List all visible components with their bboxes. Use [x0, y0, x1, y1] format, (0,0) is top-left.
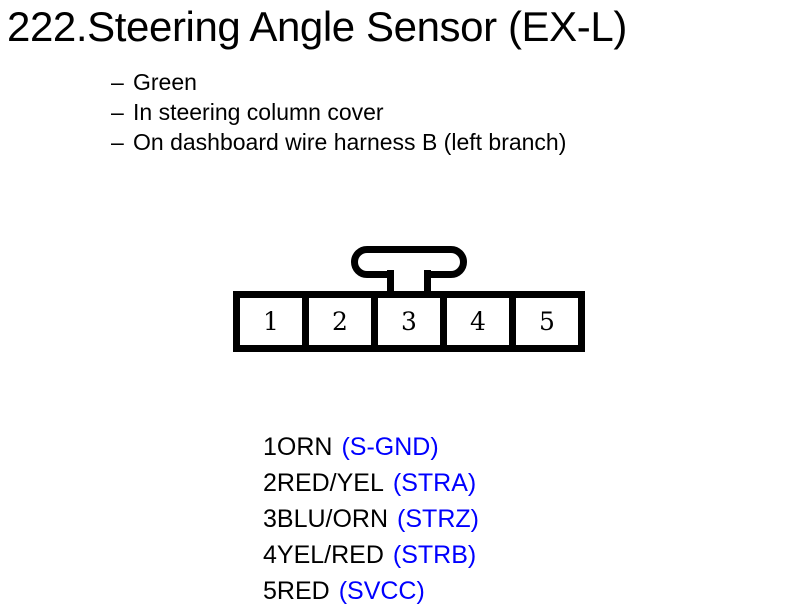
cavity-number-label: 5: [539, 309, 555, 334]
pin-circuit-code: (SVCC): [339, 577, 425, 605]
list-item-label: Green: [133, 69, 197, 95]
pin-wire-label: 2RED/YEL: [263, 469, 384, 497]
pin-wire-label: 5RED: [263, 577, 330, 605]
connector-diagram: 1 2 3 4 5: [233, 246, 585, 352]
pin-row: 1ORN(S-GND): [263, 429, 479, 465]
pin-wire-label: 4YEL/RED: [263, 541, 384, 569]
pin-row: 3BLU/ORN(STRZ): [263, 501, 479, 537]
list-item: –Green: [111, 67, 566, 97]
pin-row: 5RED(SVCC): [263, 573, 479, 609]
connector-cavity-1: 1: [240, 298, 309, 345]
cavity-number-label: 2: [332, 309, 348, 334]
connector-body: 1 2 3 4 5: [233, 291, 585, 352]
list-item: –On dashboard wire harness B (left branc…: [111, 127, 566, 157]
cavity-number-label: 1: [263, 309, 279, 334]
list-item-label: In steering column cover: [133, 99, 384, 125]
bullet-dash-icon: –: [111, 67, 133, 97]
list-item: –In steering column cover: [111, 97, 566, 127]
bullet-dash-icon: –: [111, 127, 133, 157]
connector-notes-list: –Green –In steering column cover –On das…: [111, 67, 566, 157]
connector-cavity-5: 5: [516, 298, 578, 345]
pin-row: 4YEL/RED(STRB): [263, 537, 479, 573]
cavity-number-label: 3: [401, 309, 417, 334]
list-item-label: On dashboard wire harness B (left branch…: [133, 129, 566, 155]
cavity-number-label: 4: [470, 309, 486, 334]
pin-assignment-list: 1ORN(S-GND) 2RED/YEL(STRA) 3BLU/ORN(STRZ…: [263, 429, 479, 609]
pin-row: 2RED/YEL(STRA): [263, 465, 479, 501]
pin-wire-label: 1ORN: [263, 433, 332, 461]
connector-cavity-3: 3: [378, 298, 447, 345]
page-title: 222.Steering Angle Sensor (EX-L): [7, 2, 627, 52]
pin-circuit-code: (STRA): [393, 469, 476, 497]
pin-wire-label: 3BLU/ORN: [263, 505, 388, 533]
connector-cavity-4: 4: [447, 298, 516, 345]
connector-cavity-2: 2: [309, 298, 378, 345]
bullet-dash-icon: –: [111, 97, 133, 127]
pin-circuit-code: (S-GND): [341, 433, 438, 461]
pin-circuit-code: (STRZ): [397, 505, 479, 533]
pin-circuit-code: (STRB): [393, 541, 476, 569]
